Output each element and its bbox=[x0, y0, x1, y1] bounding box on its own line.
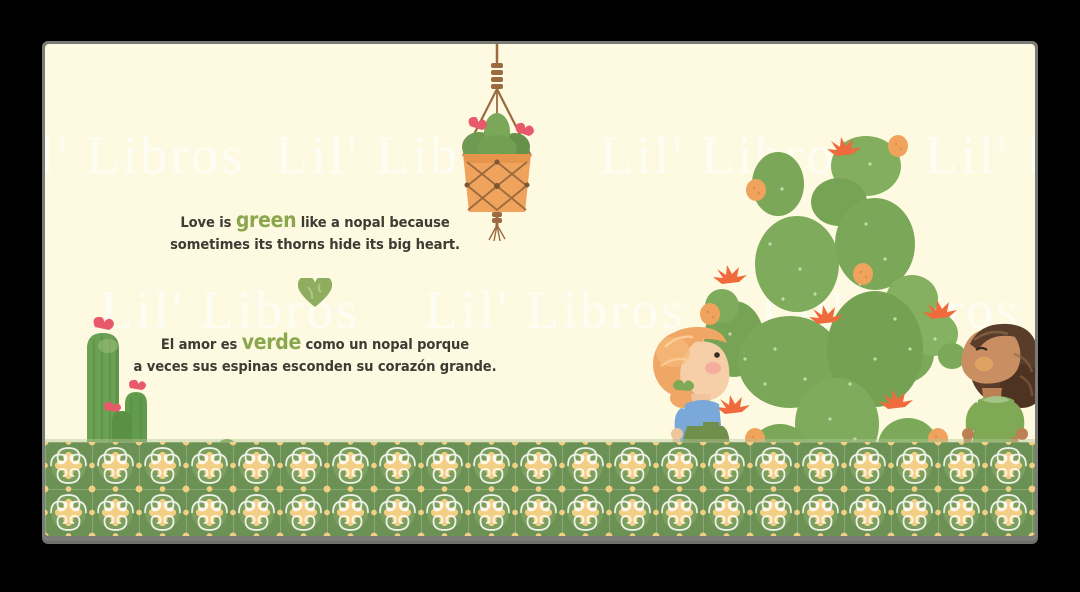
verse-es-after: como un nopal porque bbox=[301, 336, 469, 353]
watermark-text: Lil' Libros bbox=[275, 124, 535, 186]
verse-en-after: like a nopal because bbox=[296, 214, 449, 231]
verse-es-line2: a veces sus espinas esconden su corazón … bbox=[134, 358, 497, 375]
book-page: Lil' Libros Lil' Libros Lil' Libros Lil'… bbox=[45, 44, 1035, 536]
verse-text-block: Love is green like a nopal because somet… bbox=[105, 206, 525, 378]
verse-en-line2: sometimes its thorns hide its big heart. bbox=[170, 236, 460, 253]
watermark-text: Lil' Libros bbox=[600, 124, 860, 186]
watermark-text: Lil' Libros bbox=[760, 279, 1020, 341]
tile-scroll-ornaments bbox=[45, 442, 1035, 536]
verse-en-before: Love is bbox=[180, 214, 236, 231]
large-nopal-cactus bbox=[670, 94, 1000, 494]
verse-en-highlight: green bbox=[236, 208, 296, 232]
verse-english: Love is green like a nopal because somet… bbox=[105, 206, 525, 256]
verse-es-highlight: verde bbox=[242, 330, 301, 354]
verse-es-before: El amor es bbox=[161, 336, 242, 353]
verse-spanish: El amor es verde como un nopal porque a … bbox=[105, 328, 525, 378]
green-heart-icon bbox=[298, 278, 332, 308]
watermark-text: Lil' Libros bbox=[45, 124, 245, 186]
watermark-text: Lil' Libros bbox=[925, 124, 1035, 186]
